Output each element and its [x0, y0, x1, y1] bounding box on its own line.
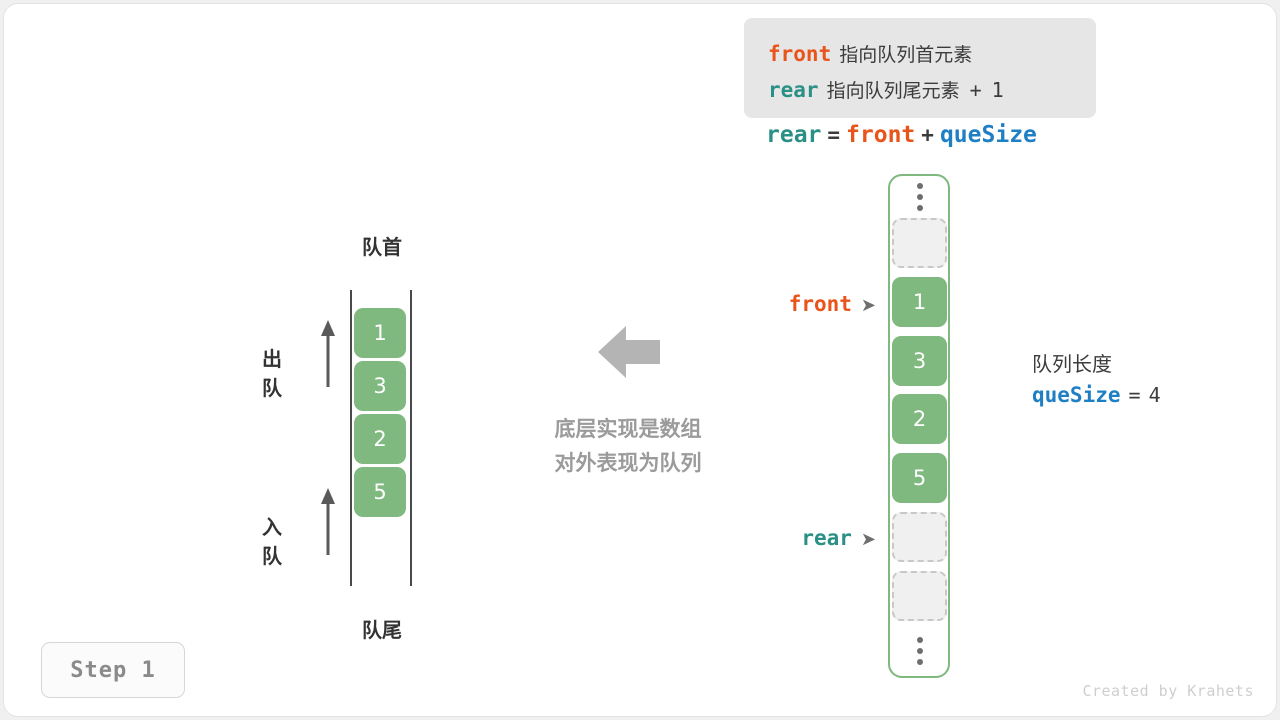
footer-credit: Created by Krahets: [1082, 682, 1254, 700]
center-caption: 底层实现是数组 对外表现为队列: [512, 412, 744, 480]
dequeue-label: 出队: [262, 343, 282, 401]
array-cell-empty: [892, 512, 947, 562]
legend-line-rear: rear指向队列尾元素+1: [768, 76, 1004, 103]
quesize-symbol: queSize: [1032, 383, 1121, 407]
formula: rear=front+queSize: [766, 122, 1037, 148]
formula-lhs: rear: [766, 122, 821, 148]
legend-rear-op: +: [970, 78, 982, 102]
step-badge: Step 1: [41, 642, 185, 698]
formula-equals: =: [827, 123, 840, 147]
queue-rail-right: [410, 290, 412, 586]
rear-pointer-label: rear: [801, 526, 852, 550]
enqueue-label: 入队: [262, 511, 282, 569]
legend-box: front指向队列首元素 rear指向队列尾元素+1: [744, 18, 1096, 118]
legend-front-symbol: front: [768, 42, 831, 66]
front-pointer-label: front: [789, 292, 852, 316]
legend-rear-value: 1: [992, 78, 1004, 102]
queue-cell: 2: [354, 414, 406, 464]
dequeue-arrow-icon: [317, 319, 339, 387]
queue-cell: 1: [354, 308, 406, 358]
formula-rhs-quesize: queSize: [940, 122, 1037, 148]
legend-rear-text: 指向队列尾元素: [827, 80, 960, 102]
legend-line-front: front指向队列首元素: [768, 40, 972, 67]
queue-tail-label: 队尾: [352, 614, 412, 643]
array-cell: 2: [892, 394, 947, 444]
front-pointer-chevron-icon: ➤: [861, 295, 876, 315]
array-cell-empty: [892, 218, 947, 268]
queue-cell: 5: [354, 467, 406, 517]
queue-length-value: queSize=4: [1032, 383, 1161, 407]
rear-pointer-chevron-icon: ➤: [861, 529, 876, 549]
front-pointer: front➤: [704, 292, 876, 316]
array-ellipsis-bottom: [892, 634, 947, 668]
array-cell: 5: [892, 453, 947, 503]
rear-pointer: rear➤: [704, 526, 876, 550]
queue-head-label: 队首: [352, 231, 412, 260]
formula-plus: +: [921, 123, 934, 147]
queue-cell: 3: [354, 361, 406, 411]
legend-front-text: 指向队列首元素: [839, 44, 972, 66]
center-caption-line1: 底层实现是数组: [512, 412, 744, 446]
queue-length-title: 队列长度: [1032, 348, 1112, 377]
quesize-equals: =: [1129, 383, 1141, 407]
legend-rear-symbol: rear: [768, 78, 819, 102]
array-ellipsis-top: [892, 180, 947, 214]
left-arrow-icon: [596, 322, 662, 382]
array-cell: 3: [892, 336, 947, 386]
enqueue-arrow-icon: [317, 487, 339, 555]
quesize-number: 4: [1149, 383, 1161, 407]
array-cell-empty: [892, 571, 947, 621]
queue-rail-left: [350, 290, 352, 586]
array-cell: 1: [892, 277, 947, 327]
formula-rhs-front: front: [846, 122, 915, 148]
center-caption-line2: 对外表现为队列: [512, 446, 744, 480]
screenshot-stage: front指向队列首元素 rear指向队列尾元素+1 rear=front+qu…: [0, 0, 1280, 720]
diagram-card: front指向队列首元素 rear指向队列尾元素+1 rear=front+qu…: [4, 4, 1276, 716]
